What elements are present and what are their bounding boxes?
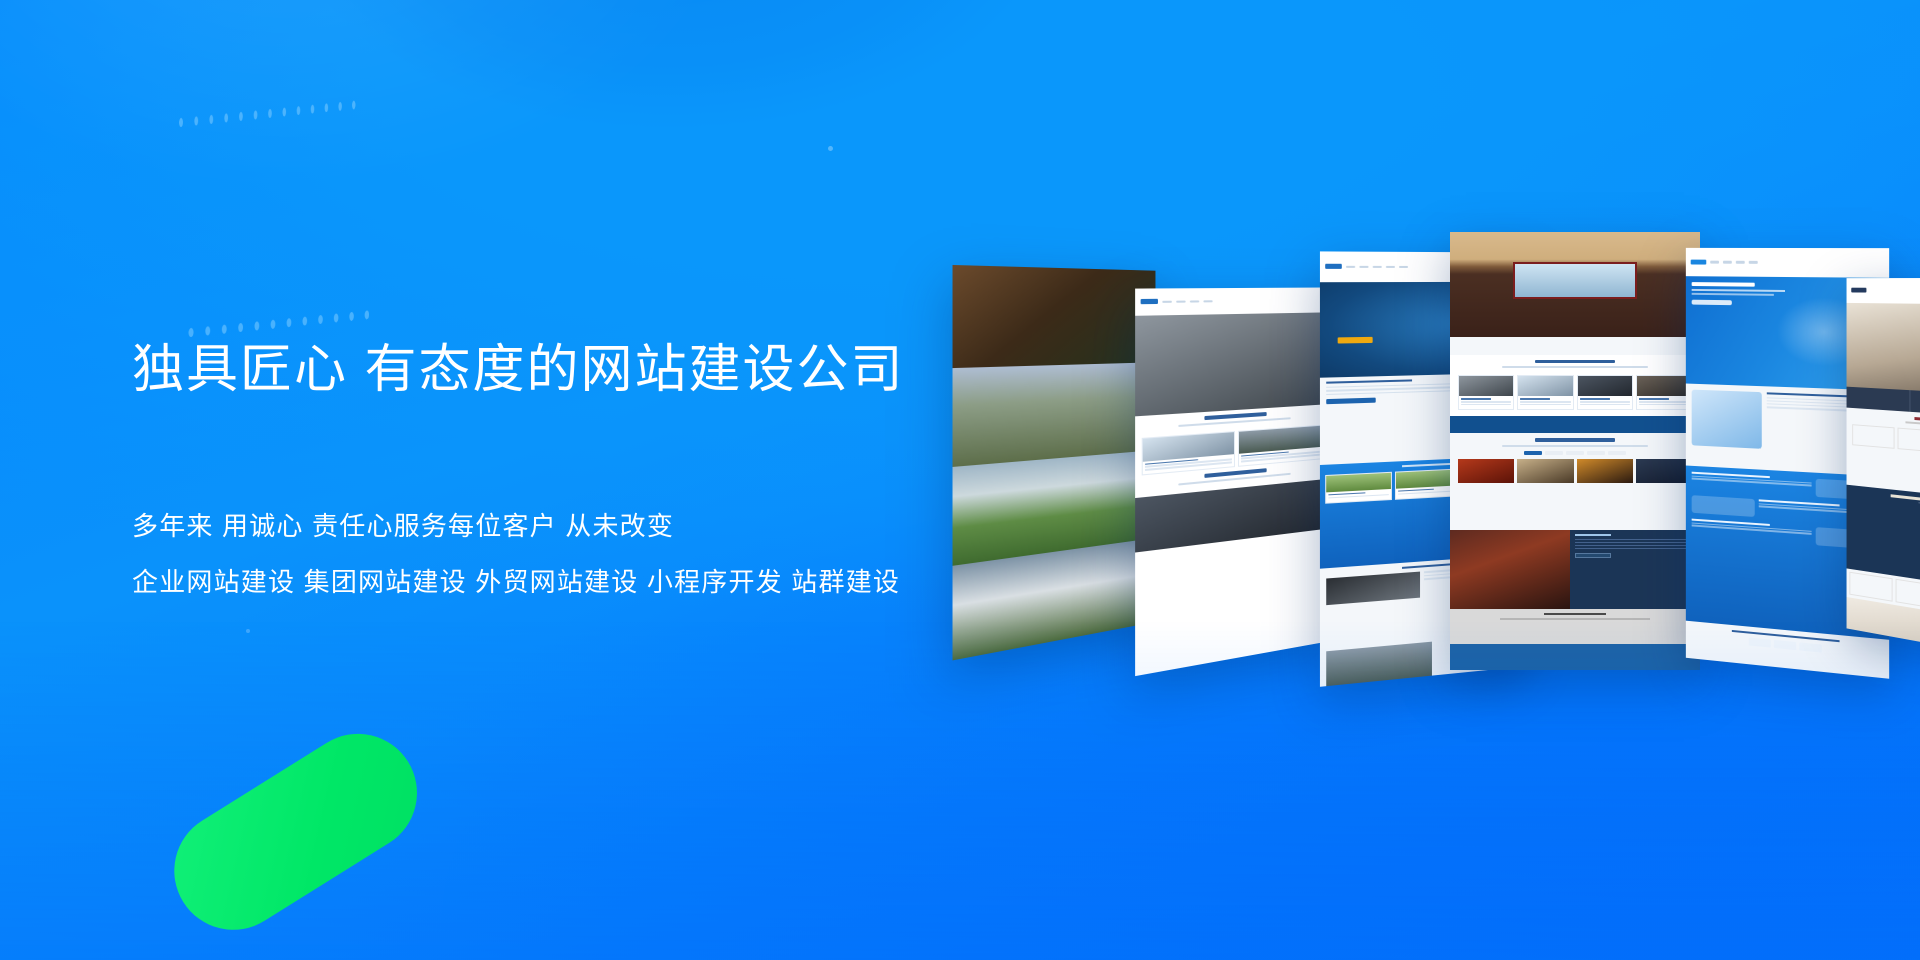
hero-subtitle-1: 多年来 用诚心 责任心服务每位客户 从未改变	[132, 513, 952, 540]
light-speck	[828, 146, 833, 151]
grid-dot	[297, 105, 301, 114]
mock-section-company	[1535, 360, 1615, 364]
grid-dot	[205, 326, 210, 336]
grid-dot	[349, 311, 354, 320]
arc-shadow-decoration	[290, 0, 1050, 130]
grid-dot	[189, 327, 194, 337]
grid-dot	[287, 317, 292, 326]
grid-dot	[334, 313, 339, 322]
hero-subtitles: 多年来 用诚心 责任心服务每位客户 从未改变 企业网站建设 集团网站建设 外贸网…	[132, 513, 952, 596]
grid-dot	[222, 324, 227, 334]
grid-dot	[338, 101, 341, 110]
light-speck	[246, 629, 250, 633]
mockup-reflection	[953, 630, 1156, 874]
grid-dot	[239, 111, 243, 120]
grid-dot	[311, 104, 314, 113]
mock-section-product	[1535, 438, 1615, 442]
hero-banner: 独具匠心 有态度的网站建设公司 多年来 用诚心 责任心服务每位客户 从未改变 企…	[0, 0, 1920, 960]
grid-dot	[255, 321, 260, 331]
grid-dot	[268, 108, 272, 117]
mockup-reflection	[1135, 648, 1328, 889]
website-mockup-showcase	[1110, 0, 1920, 960]
grid-dot	[302, 316, 307, 325]
grid-dot	[352, 100, 355, 109]
grid-dot	[254, 110, 258, 119]
mockup-panel-theatre-equipment[interactable]	[1450, 232, 1700, 670]
dot-grid-row	[179, 2, 355, 230]
grid-dot	[283, 107, 287, 116]
grid-dot	[271, 319, 276, 328]
grid-dot	[179, 117, 183, 127]
mockup-panel-stadium-architecture[interactable]	[1135, 287, 1328, 676]
green-accent-shape	[152, 712, 439, 952]
hero-copy: 独具匠心 有态度的网站建设公司 多年来 用诚心 责任心服务每位客户 从未改变 企…	[132, 340, 952, 596]
grid-dot	[325, 103, 328, 112]
grid-dot	[224, 113, 228, 123]
grid-dot	[365, 310, 369, 319]
hero-subtitle-2: 企业网站建设 集团网站建设 外贸网站建设 小程序开发 站群建设	[132, 569, 952, 596]
grid-dot	[238, 322, 243, 332]
mockup-reflection	[1450, 670, 1700, 910]
grid-dot	[209, 114, 213, 124]
mockup-panel-hotel-design[interactable]	[1847, 278, 1920, 666]
grid-dot	[318, 314, 323, 323]
mockup-panel-aerial-projects[interactable]	[953, 265, 1156, 660]
page-title: 独具匠心 有态度的网站建设公司	[132, 340, 952, 401]
grid-dot	[194, 116, 198, 126]
